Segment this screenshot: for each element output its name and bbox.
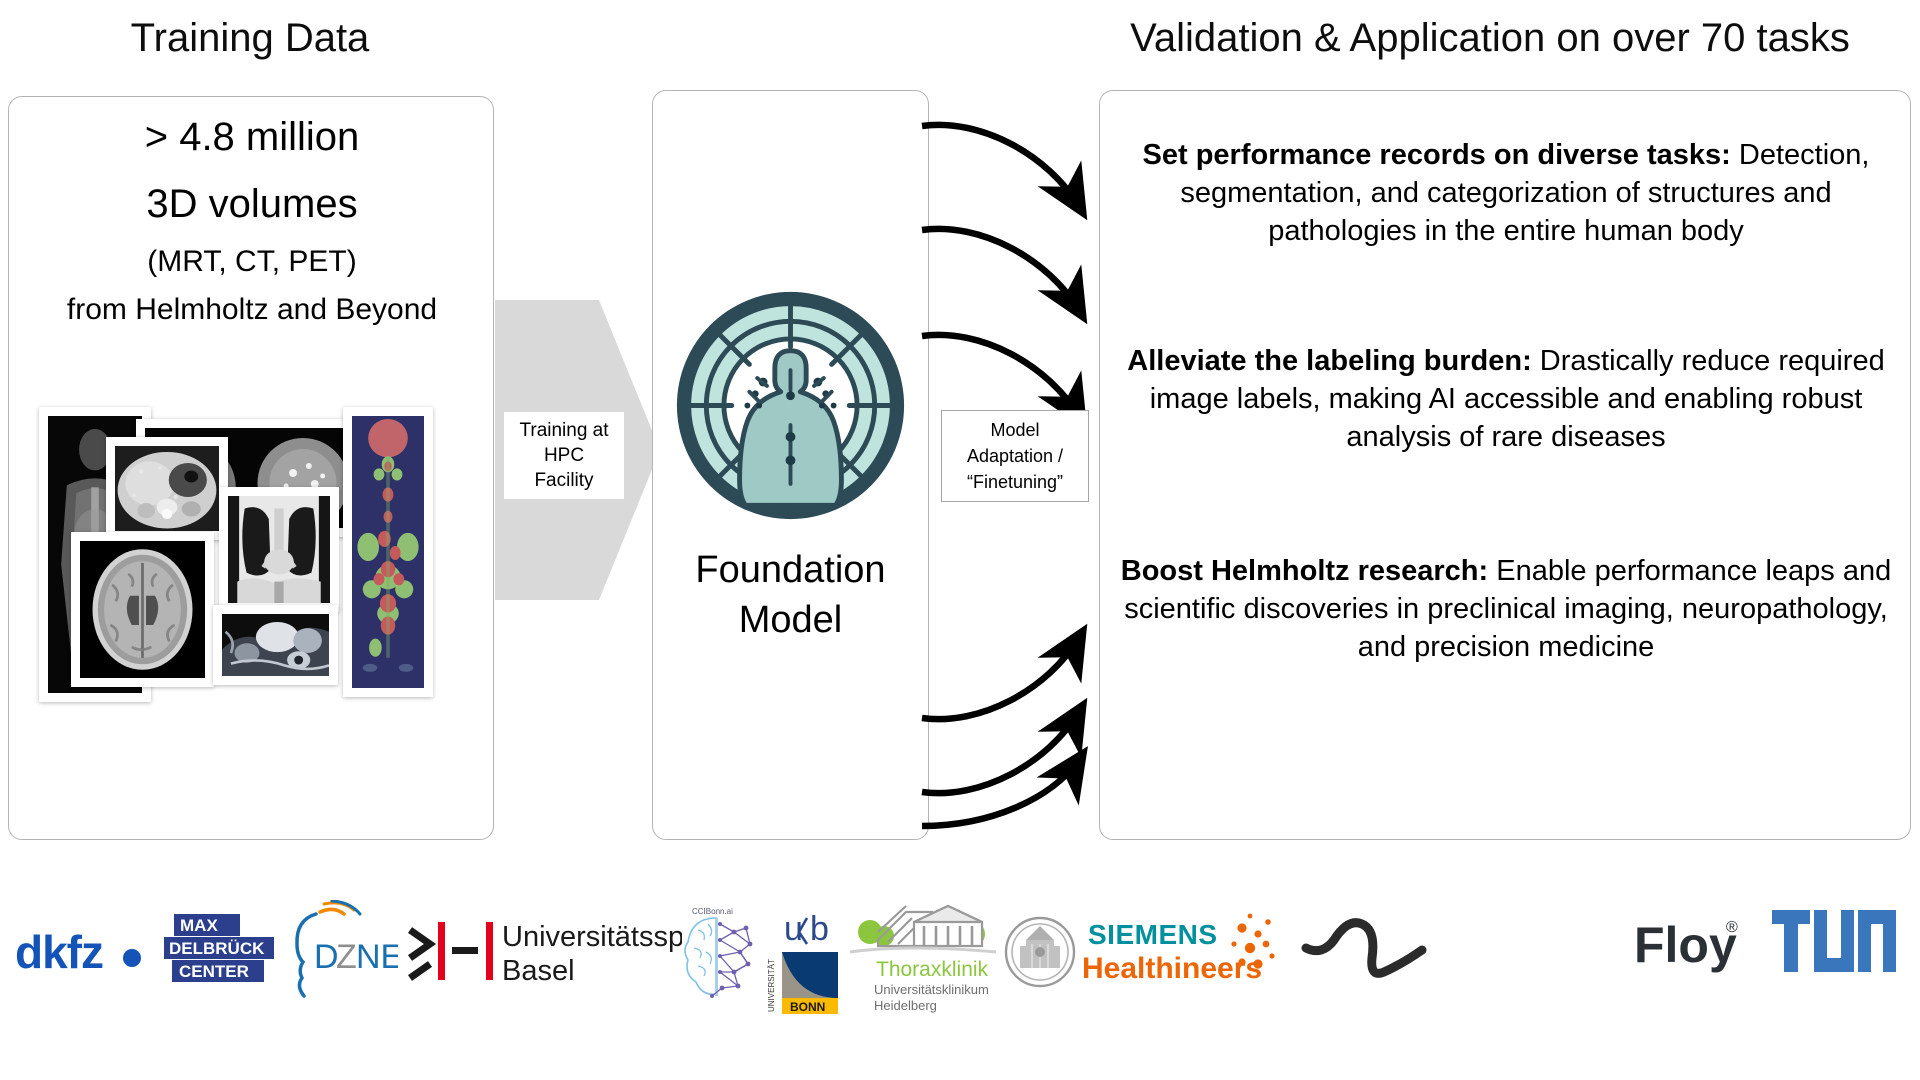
validation-results-panel: Set performance records on diverse tasks… [1099, 90, 1911, 840]
logo-ukb-universitaet-bonn: u b UNIVERSITÄT BONN [762, 900, 848, 1050]
modality-list-text: (MRT, CT, PET) [9, 245, 495, 279]
result-heading: Alleviate the labeling burden: [1127, 345, 1531, 377]
adaptation-line-3: “Finetuning” [945, 469, 1085, 495]
arrow-up-1 [922, 636, 1080, 719]
hpc-label-line-3: Facility [508, 468, 620, 493]
logo-thoraxklinik-heidelberg: Thoraxklinik Universitätsklinikum Heidel… [848, 900, 998, 1050]
foundation-model-label-line-2: Model [652, 595, 929, 645]
logo-floy: Floy ® [1630, 900, 1760, 1050]
abdominal-sagittal-mri-scan [213, 605, 338, 685]
adaptation-line-1: Model [945, 417, 1085, 443]
result-item: Boost Helmholtz research: Enable perform… [1110, 552, 1902, 666]
brain-mri-scan [71, 532, 214, 687]
svg-text:D: D [314, 938, 339, 976]
lung-ct-scan [219, 487, 339, 612]
svg-text:Healthineers: Healthineers [1082, 952, 1262, 985]
svg-text:UNIVERSITÄT: UNIVERSITÄT [767, 959, 776, 1012]
model-adaptation-label: Model Adaptation / “Finetuning” [941, 410, 1089, 502]
svg-text:dkfz: dkfz [15, 926, 103, 978]
svg-text:CCIBonn.ai: CCIBonn.ai [692, 907, 733, 916]
volume-type-text: 3D volumes [9, 182, 495, 227]
svg-text:DELBRÜCK: DELBRÜCK [169, 939, 265, 958]
svg-text:Heidelberg: Heidelberg [874, 998, 937, 1013]
training-data-panel: > 4.8 million 3D volumes (MRT, CT, PET) … [8, 96, 494, 840]
foundation-model-label-line-1: Foundation [652, 545, 929, 595]
logo-university-seal [1000, 900, 1080, 1050]
result-heading: Set performance records on diverse tasks… [1143, 139, 1731, 171]
svg-text:b: b [810, 910, 829, 948]
medical-image-collage [21, 397, 483, 727]
svg-text:Universitätsklinikum: Universitätsklinikum [874, 982, 989, 997]
svg-text:MAX: MAX [180, 916, 218, 935]
svg-text:CENTER: CENTER [179, 962, 249, 981]
logo-max-delbruck-center: MAX DELBRÜCK CENTER [162, 900, 282, 1050]
logo-dzne: D Z NE [288, 900, 398, 1050]
validation-application-heading: Validation & Application on over 70 task… [1060, 16, 1920, 61]
logo-siemens-healthineers: SIEMENS Healthineers [1082, 900, 1292, 1050]
svg-text:Thoraxklinik: Thoraxklinik [876, 958, 989, 981]
svg-text:Z: Z [336, 938, 357, 976]
svg-text:®: ® [1726, 919, 1738, 936]
result-item: Alleviate the labeling burden: Drastical… [1110, 342, 1902, 456]
logo-ccibonn-ai: CCIBonn.ai [676, 900, 760, 1050]
logo-universitaetsspital-basel: Universitätsspital Basel [402, 900, 682, 1050]
arrow-down-1 [922, 125, 1080, 208]
hpc-label-line-1: Training at [508, 418, 620, 443]
logo-dkfz: dkfz [10, 900, 160, 1050]
partner-logo-bar: dkfz MAX DELBRÜCK CENTER D Z NE [0, 900, 1920, 1060]
volume-count-text: > 4.8 million [9, 115, 495, 160]
hpc-label-line-2: HPC [508, 443, 620, 468]
svg-text:SIEMENS: SIEMENS [1088, 919, 1218, 950]
arrow-down-2 [922, 229, 1080, 312]
adaptation-line-2: Adaptation / [945, 443, 1085, 469]
abdominal-ct-scan [106, 437, 228, 540]
logo-tum [1770, 900, 1900, 1050]
training-hpc-label: Training at HPC Facility [504, 412, 624, 499]
svg-text:BONN: BONN [790, 1000, 825, 1014]
data-source-text: from Helmholtz and Beyond [9, 293, 495, 327]
svg-text:Universitätsspital: Universitätsspital [502, 921, 682, 953]
result-heading: Boost Helmholtz research: [1121, 555, 1488, 587]
logo-squiggle-mark [1300, 900, 1430, 1050]
result-item: Set performance records on diverse tasks… [1110, 136, 1902, 250]
foundation-model-label: Foundation Model [652, 545, 929, 645]
training-data-heading: Training Data [0, 16, 500, 61]
svg-text:NE: NE [356, 938, 398, 976]
whole-body-pet-scan [343, 407, 433, 697]
svg-text:Basel: Basel [502, 955, 575, 987]
arrow-down-3 [922, 335, 1080, 418]
foundation-model-human-target-icon [673, 288, 908, 523]
svg-text:Floy: Floy [1634, 917, 1737, 973]
